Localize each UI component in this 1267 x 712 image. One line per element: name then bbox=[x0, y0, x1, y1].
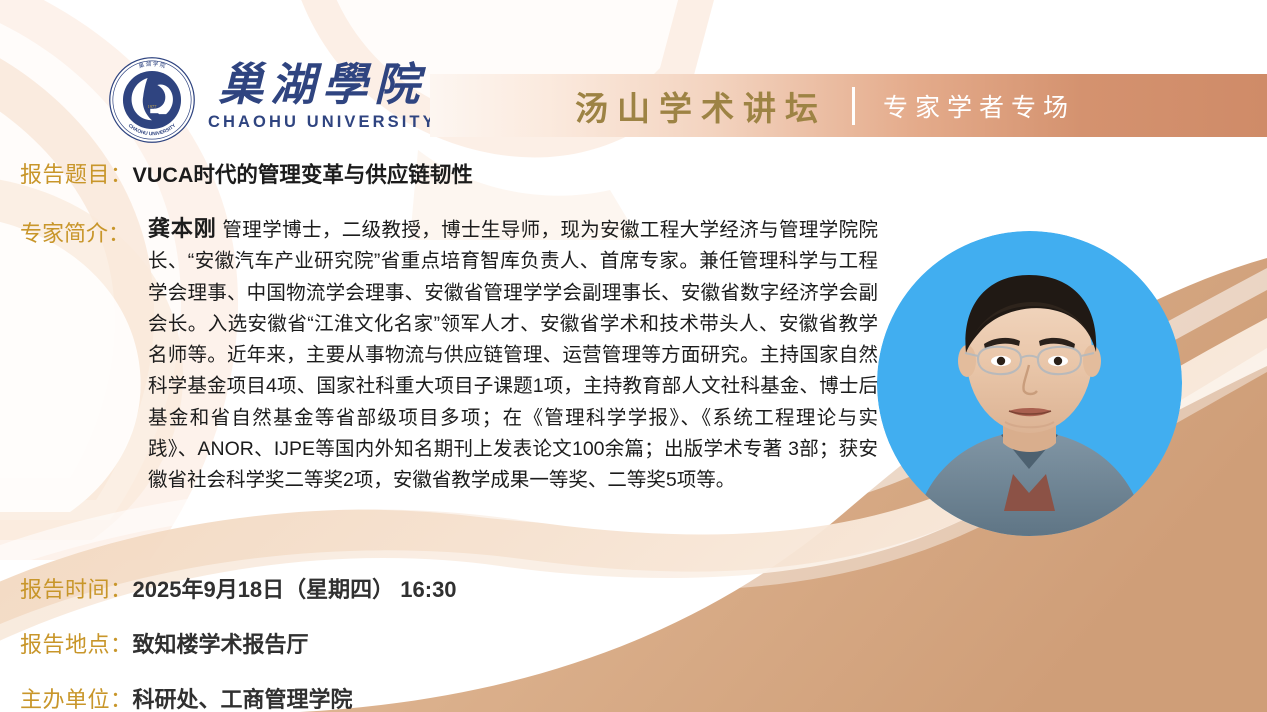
field-row-bio: 专家简介： 龚本刚 管理学博士，二级教授，博士生导师，现为安徽工程大学经济与管理… bbox=[20, 213, 880, 497]
title-label: 报告题目： bbox=[20, 157, 133, 189]
bio-text: 管理学博士，二级教授，博士生导师，现为安徽工程大学经济与管理学院院长、“安徽汽车… bbox=[148, 219, 878, 491]
bio-paragraph: 龚本刚 管理学博士，二级教授，博士生导师，现为安徽工程大学经济与管理学院院长、“… bbox=[148, 213, 878, 497]
speaker-name: 龚本刚 bbox=[148, 216, 217, 241]
time-label: 报告时间： bbox=[20, 572, 133, 604]
place-value: 致知楼学术报告厅 bbox=[133, 627, 309, 659]
bio-label: 专家简介： bbox=[20, 216, 130, 248]
poster-content: 报告题目： VUCA时代的管理变革与供应链韧性 专家简介： 龚本刚 管理学博士，… bbox=[0, 0, 1267, 712]
time-value: 2025年9月18日（星期四） 16:30 bbox=[133, 572, 457, 604]
field-row-host: 主办单位： 科研处、工商管理学院 bbox=[20, 682, 353, 712]
host-label: 主办单位： bbox=[20, 682, 133, 712]
lecture-poster: 1977 CHAOHU UNIVERSITY 巢 湖 学 院 bbox=[0, 0, 1267, 712]
host-value: 科研处、工商管理学院 bbox=[133, 682, 353, 712]
title-value: VUCA时代的管理变革与供应链韧性 bbox=[133, 158, 473, 189]
place-label: 报告地点： bbox=[20, 627, 133, 659]
field-row-place: 报告地点： 致知楼学术报告厅 bbox=[20, 627, 309, 659]
field-row-title: 报告题目： VUCA时代的管理变革与供应链韧性 bbox=[20, 157, 473, 189]
field-row-time: 报告时间： 2025年9月18日（星期四） 16:30 bbox=[20, 572, 457, 604]
